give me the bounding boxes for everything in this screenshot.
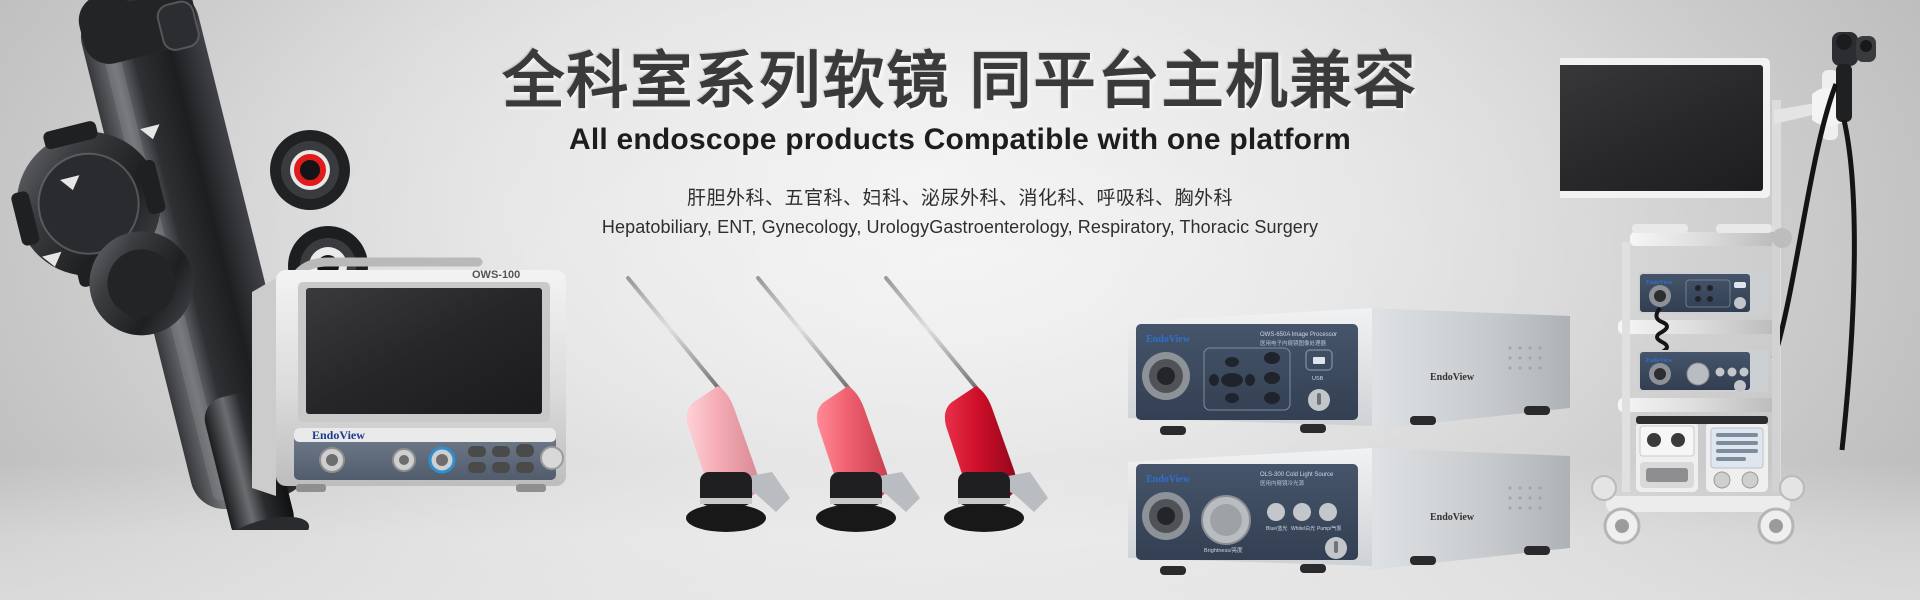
light-source-button-blue: Blue/蓝光	[1266, 525, 1287, 532]
tower-aux-devices	[1636, 416, 1768, 492]
product-banner: 全科室系列软镜 同平台主机兼容 All endoscope products C…	[0, 0, 1920, 600]
processor-stack: EndoView OWS-650A Image Processor 医用电子内窥…	[1120, 300, 1580, 590]
light-source-knob-label: Brightness/亮度	[1204, 546, 1243, 554]
workstation-model-label: OWS-100	[472, 269, 520, 281]
workstation-brand-label: EndoView	[312, 428, 365, 442]
banner-title-en: All endoscope products Compatible with o…	[0, 123, 1920, 157]
tower-image-processor: EndoView	[1638, 272, 1768, 352]
banner-title-cn: 全科室系列软镜 同平台主机兼容	[0, 46, 1920, 117]
light-source-brand: EndoView	[1146, 474, 1191, 485]
image-processor-model: OWS-650A Image Processor	[1260, 332, 1337, 338]
workstation-ows-100: EndoView OWS-100	[236, 248, 596, 518]
image-processor-model-cn: 医用电子内窥镜图像处理器	[1260, 339, 1327, 347]
light-source-model: OLS-300 Cold Light Source	[1260, 472, 1334, 478]
image-processor-side-brand: EndoView	[1430, 372, 1475, 383]
cold-light-source-unit: EndoView OLS-300 Cold Light Source 医用内窥镜…	[1128, 448, 1570, 575]
tower-light-source: EndoView	[1638, 350, 1768, 392]
light-source-side-brand: EndoView	[1430, 512, 1475, 523]
banner-departments-cn: 肝胆外科、五官科、妇科、泌尿外科、消化科、呼吸科、胸外科	[0, 183, 1920, 210]
image-processor-usb-label: USB	[1312, 376, 1324, 382]
light-source-button-pump: Pump/气泵	[1317, 525, 1341, 532]
image-processor-unit: EndoView OWS-650A Image Processor 医用电子内窥…	[1128, 308, 1570, 435]
light-source-model-cn: 医用内窥镜冷光源	[1260, 479, 1305, 487]
rigid-endoscope-group	[600, 250, 1080, 600]
banner-text-block: 全科室系列软镜 同平台主机兼容 All endoscope products C…	[0, 46, 1920, 238]
image-processor-brand: EndoView	[1146, 334, 1191, 345]
light-source-button-white: White/白光	[1291, 525, 1315, 532]
banner-departments-en: Hepatobiliary, ENT, Gynecology, UrologyG…	[0, 217, 1920, 238]
